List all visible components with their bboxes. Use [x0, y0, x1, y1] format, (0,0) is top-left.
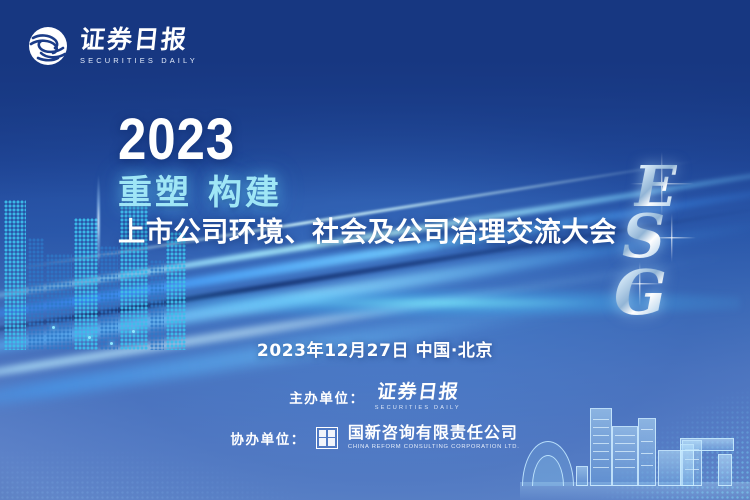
china-reform-square-logo-icon	[316, 427, 338, 449]
event-year: 2023	[118, 112, 611, 168]
coorganizer-name-en: CHINA REFORM CONSULTING CORPORATION LTD.	[348, 444, 520, 450]
host-label: 主办单位：	[289, 387, 365, 407]
title-divider	[96, 174, 101, 270]
hero-title-block: 2023 重塑构建 上市公司环境、社会及公司治理交流大会	[118, 112, 678, 248]
host-name-cn: 证券日报	[375, 383, 460, 402]
coorganizer-name-cn: 国新咨询有限责任公司	[348, 425, 518, 441]
host-logo: 证券日报 SECURITIES DAILY	[375, 383, 461, 411]
event-headline: 重塑构建	[118, 176, 678, 212]
sparkle-icon	[618, 262, 662, 306]
event-datetime-location: 2023年12月27日 中国·北京	[0, 336, 750, 361]
coorganizer-row: 协办单位： 国新咨询有限责任公司 CHINA REFORM CONSULTING…	[0, 425, 750, 450]
headline-part-2: 构建	[208, 173, 282, 213]
cyan-horizon-glow	[40, 286, 740, 320]
brand-name-en: SECURITIES DAILY	[80, 56, 198, 65]
conference-poster: 证券日报 SECURITIES DAILY 2023 重塑构建 上市公司环境、社…	[0, 0, 750, 500]
host-organizer-row: 主办单位： 证券日报 SECURITIES DAILY	[0, 383, 750, 411]
headline-part-1: 重塑	[118, 173, 192, 213]
event-info-block: 2023年12月27日 中国·北京 主办单位： 证券日报 SECURITIES …	[0, 336, 750, 450]
header-logo: 证券日报 SECURITIES DAILY	[26, 24, 198, 68]
coorganizer-label: 协办单位：	[230, 428, 306, 448]
coorganizer-text: 国新咨询有限责任公司 CHINA REFORM CONSULTING CORPO…	[348, 425, 520, 450]
esg-letter-g: G	[614, 256, 667, 329]
brand-name-cn: 证券日报	[79, 27, 199, 52]
securities-daily-globe-icon	[26, 24, 70, 68]
event-subheadline: 上市公司环境、社会及公司治理交流大会	[118, 217, 672, 248]
host-name-en: SECURITIES DAILY	[375, 405, 461, 411]
